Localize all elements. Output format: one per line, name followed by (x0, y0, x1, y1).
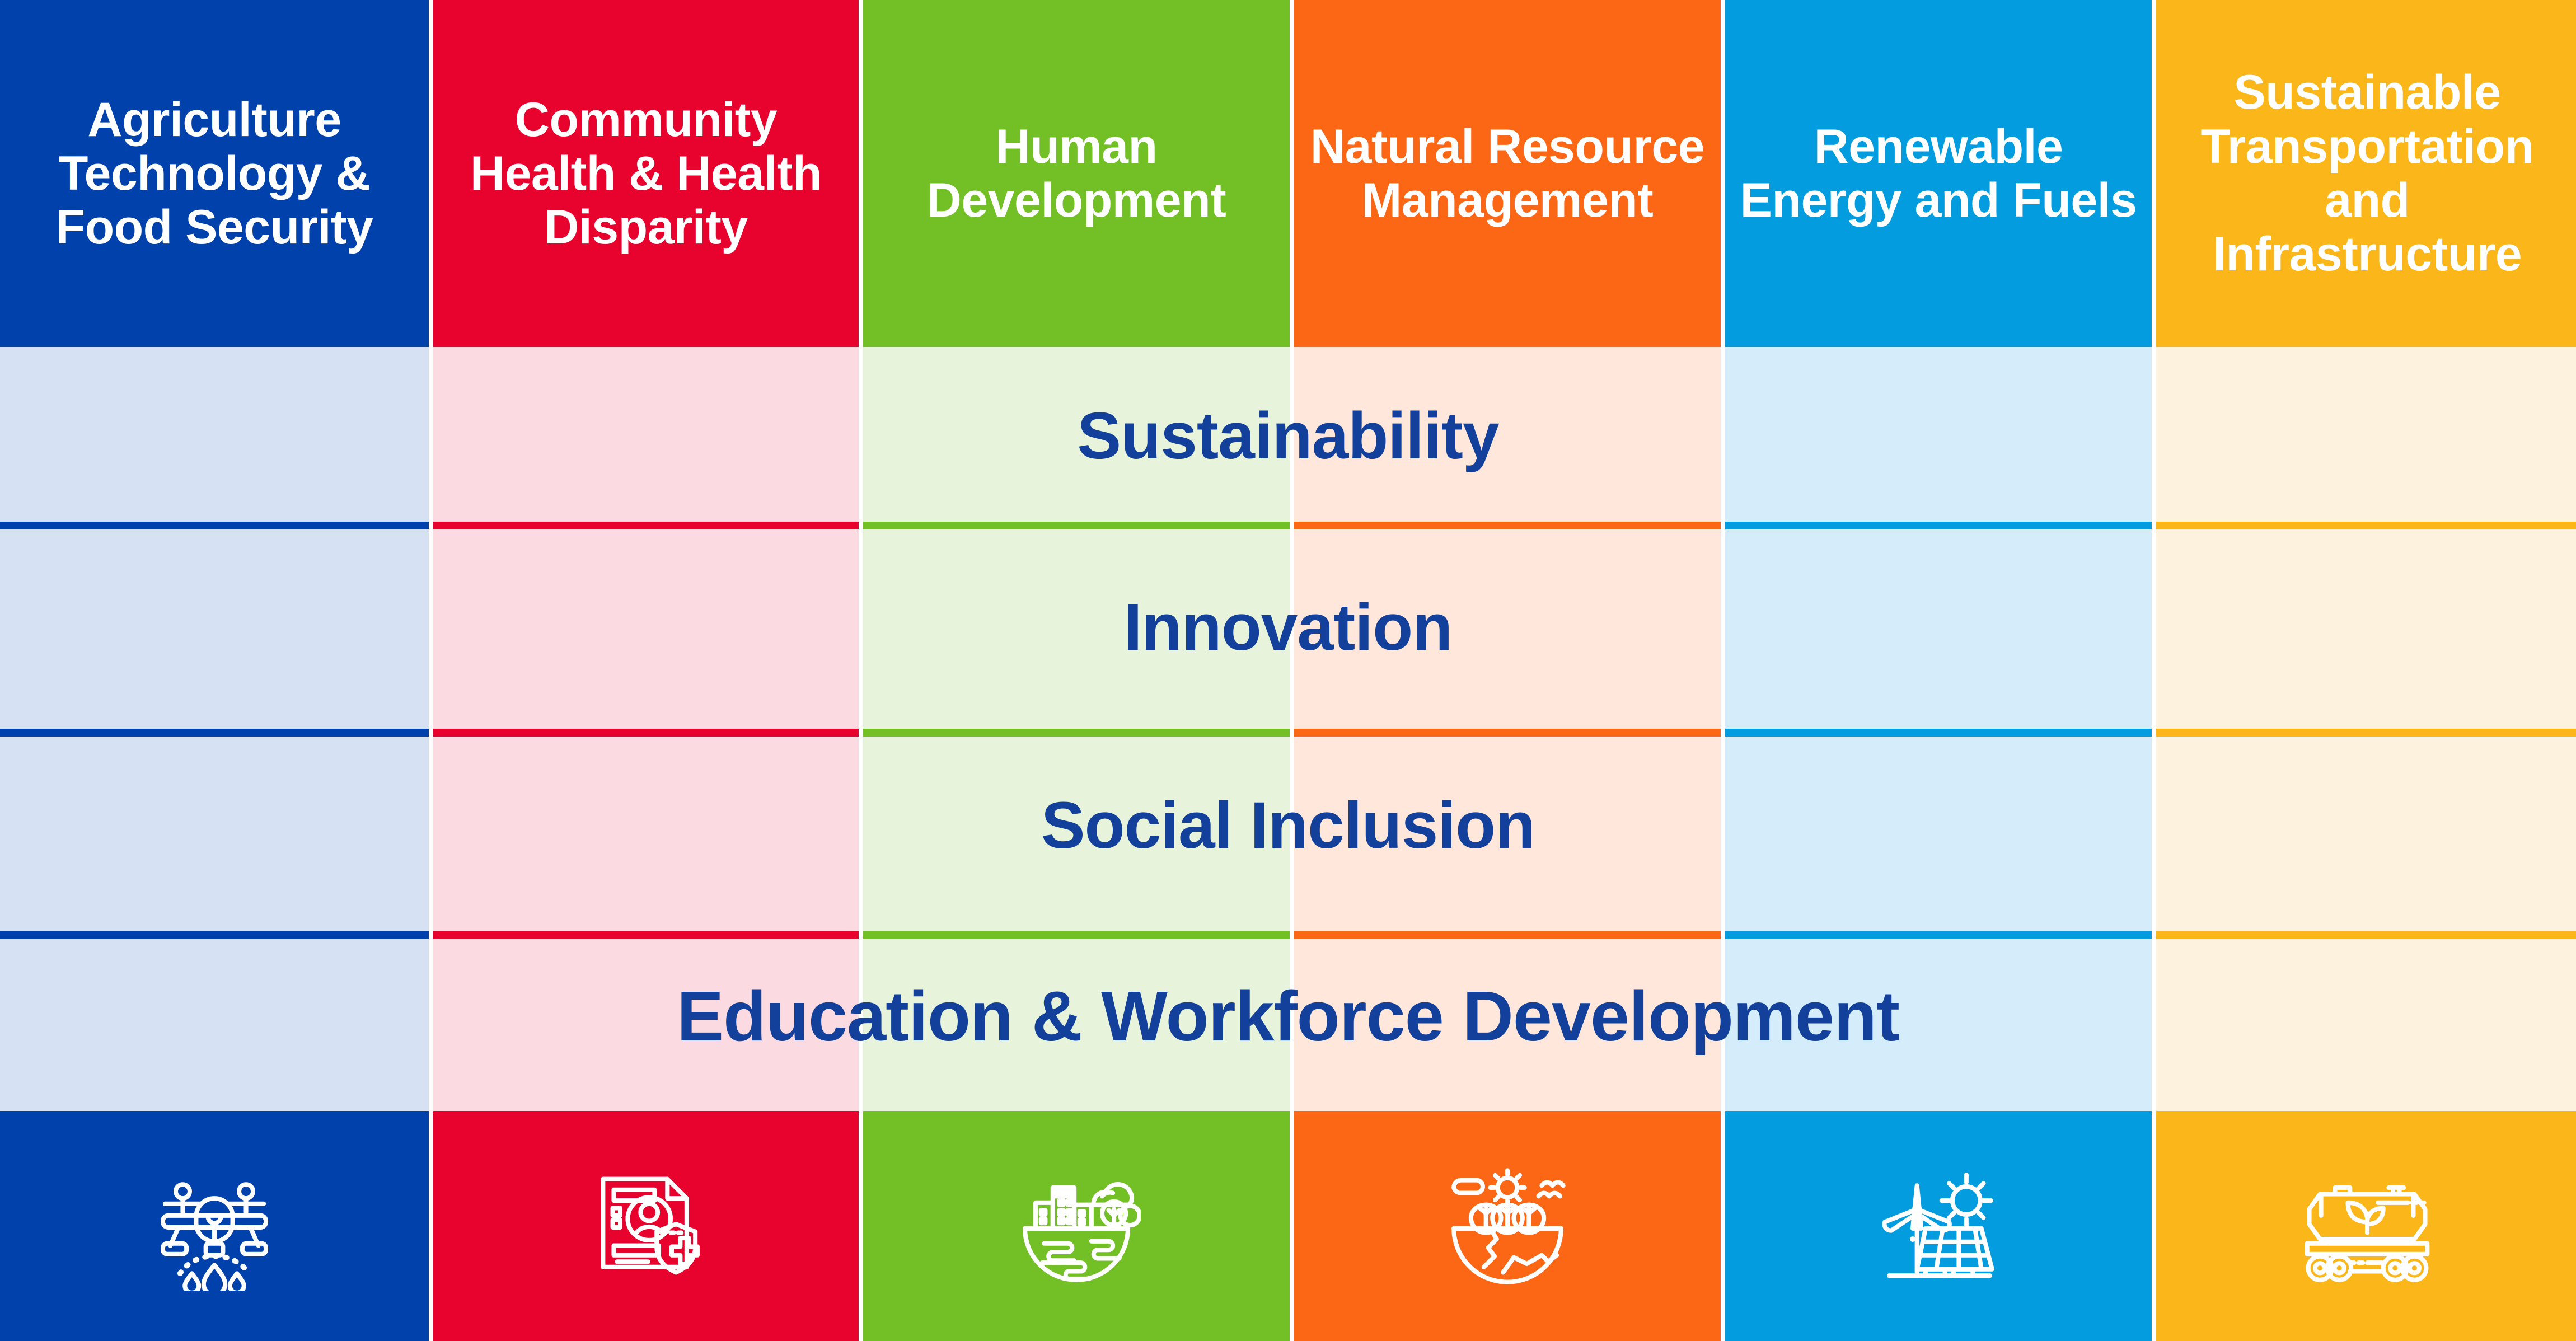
column-renewable-energy-and-fuels[interactable]: Renewable Energy and Fuels (1725, 0, 2152, 1341)
divider-renewable-energy-2 (1725, 729, 2152, 737)
column-header-natural-resource-management: Natural Resource Management (1294, 0, 1721, 347)
column-body-sustainable-transportation (2156, 347, 2576, 1111)
column-header-human-development: Human Development (863, 0, 1290, 347)
cell-agriculture-innovation (0, 529, 429, 729)
column-sustainable-transportation-and-infrastructure[interactable]: Sustainable Transportation and Infrastru… (2156, 0, 2576, 1341)
cell-renewable-energy-innovation (1725, 529, 2152, 729)
column-community-health-and-health-disparity[interactable]: Community Health & Health Disparity (433, 0, 859, 1341)
column-agriculture-technology-and-food-security[interactable]: Agriculture Technology & Food Security (0, 0, 429, 1341)
column-footer-community-health (433, 1111, 859, 1341)
divider-human-development-1 (863, 522, 1290, 529)
column-body-community-health (433, 347, 859, 1111)
divider-community-health-3 (433, 931, 859, 939)
column-body-natural-resource (1294, 347, 1721, 1111)
cell-human-development-social-inclusion (863, 737, 1290, 931)
divider-agriculture-2 (0, 729, 429, 737)
column-footer-human-development (863, 1111, 1290, 1341)
cell-human-development-sustainability (863, 347, 1290, 522)
column-header-renewable-energy-and-fuels: Renewable Energy and Fuels (1725, 0, 2152, 347)
column-stack: Agriculture Technology & Food Security (0, 0, 2576, 1341)
cell-agriculture-education (0, 939, 429, 1111)
biofuel-tanker-rail-car-icon (2303, 1162, 2432, 1291)
divider-natural-resource-1 (1294, 522, 1721, 529)
column-body-agriculture (0, 347, 429, 1111)
column-human-development[interactable]: Human Development (863, 0, 1290, 1341)
cell-agriculture-sustainability (0, 347, 429, 522)
sustainable-city-globe-icon (1012, 1162, 1141, 1291)
priority-areas-matrix: Agriculture Technology & Food Security (0, 0, 2576, 1341)
cell-sustainable-transportation-social-inclusion (2156, 737, 2576, 931)
earth-trees-sun-icon (1443, 1162, 1572, 1291)
divider-sustainable-transportation-3 (2156, 931, 2576, 939)
divider-sustainable-transportation-1 (2156, 522, 2576, 529)
cell-renewable-energy-education (1725, 939, 2152, 1111)
divider-community-health-2 (433, 729, 859, 737)
health-record-shield-icon (582, 1162, 710, 1291)
divider-sustainable-transportation-2 (2156, 729, 2576, 737)
divider-renewable-energy-3 (1725, 931, 2152, 939)
cell-natural-resource-education (1294, 939, 1721, 1111)
cell-community-health-social-inclusion (433, 737, 859, 931)
column-body-human-development (863, 347, 1290, 1111)
cell-community-health-education (433, 939, 859, 1111)
divider-human-development-3 (863, 931, 1290, 939)
cell-agriculture-social-inclusion (0, 737, 429, 931)
column-natural-resource-management[interactable]: Natural Resource Management (1294, 0, 1721, 1341)
column-footer-natural-resource (1294, 1111, 1721, 1341)
divider-community-health-1 (433, 522, 859, 529)
divider-agriculture-3 (0, 931, 429, 939)
cell-sustainable-transportation-sustainability (2156, 347, 2576, 522)
cell-sustainable-transportation-innovation (2156, 529, 2576, 729)
divider-natural-resource-3 (1294, 931, 1721, 939)
column-body-renewable-energy (1725, 347, 2152, 1111)
column-footer-sustainable-transportation (2156, 1111, 2576, 1341)
column-header-agriculture-technology-and-food-security: Agriculture Technology & Food Security (0, 0, 429, 347)
cell-renewable-energy-social-inclusion (1725, 737, 2152, 931)
divider-human-development-2 (863, 729, 1290, 737)
wind-turbine-solar-panel-icon (1874, 1162, 2003, 1291)
cell-natural-resource-innovation (1294, 529, 1721, 729)
cell-natural-resource-social-inclusion (1294, 737, 1721, 931)
agriculture-drone-icon (150, 1162, 279, 1291)
column-footer-agriculture (0, 1111, 429, 1341)
divider-renewable-energy-1 (1725, 522, 2152, 529)
column-header-community-health-and-health-disparity: Community Health & Health Disparity (433, 0, 859, 347)
cell-sustainable-transportation-education (2156, 939, 2576, 1111)
divider-natural-resource-2 (1294, 729, 1721, 737)
cell-community-health-sustainability (433, 347, 859, 522)
cell-human-development-education (863, 939, 1290, 1111)
column-footer-renewable-energy (1725, 1111, 2152, 1341)
cell-natural-resource-sustainability (1294, 347, 1721, 522)
cell-renewable-energy-sustainability (1725, 347, 2152, 522)
cell-community-health-innovation (433, 529, 859, 729)
column-header-sustainable-transportation-and-infrastructure: Sustainable Transportation and Infrastru… (2156, 0, 2576, 347)
cell-human-development-innovation (863, 529, 1290, 729)
divider-agriculture-1 (0, 522, 429, 529)
